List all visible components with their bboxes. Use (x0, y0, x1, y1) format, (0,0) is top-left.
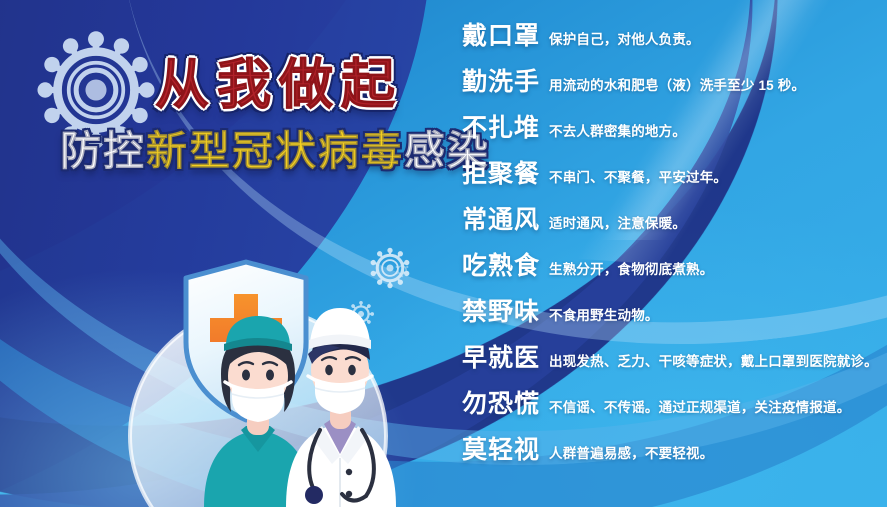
tip-description: 不食用野生动物。 (549, 304, 659, 324)
tip-title: 禁野味 (462, 292, 540, 328)
tip-title: 勤洗手 (462, 62, 540, 98)
tip-title: 不扎堆 (462, 108, 540, 144)
tip-title: 常通风 (462, 200, 540, 236)
tip-title: 拒聚餐 (462, 154, 540, 190)
medical-staff-illustration (108, 246, 408, 507)
tip-description: 人群普遍易感，不要轻视。 (549, 442, 713, 462)
list-item: 早就医 出现发热、乏力、干咳等症状，戴上口罩到医院就诊。 (462, 338, 880, 384)
headline-block: 从我做起 防控新型冠状病毒感染 (60, 58, 460, 173)
list-item: 不扎堆 不去人群密集的地方。 (462, 108, 880, 154)
tip-title: 戴口罩 (462, 16, 540, 52)
prevention-tips-list: 戴口罩 保护自己，对他人负责。 勤洗手 用流动的水和肥皂（液）洗手至少 15 秒… (462, 16, 880, 476)
tip-title: 莫轻视 (462, 430, 540, 466)
covid-prevention-poster: 从我做起 防控新型冠状病毒感染 (0, 0, 887, 507)
tip-title: 吃熟食 (462, 246, 540, 282)
eye (266, 370, 274, 381)
tip-description: 出现发热、乏力、干咳等症状，戴上口罩到医院就诊。 (549, 350, 878, 370)
list-item: 勿恐慌 不信谣、不传谣。通过正规渠道，关注疫情报道。 (462, 384, 880, 430)
list-item: 戴口罩 保护自己，对他人负责。 (462, 16, 880, 62)
tip-description: 保护自己，对他人负责。 (549, 28, 700, 48)
subtitle-segment-2: 新型冠状病毒 (146, 128, 404, 174)
tip-description: 不串门、不聚餐，平安过年。 (549, 166, 727, 186)
tip-description: 适时通风，注意保暖。 (549, 212, 686, 232)
list-item: 勤洗手 用流动的水和肥皂（液）洗手至少 15 秒。 (462, 62, 880, 108)
eye (348, 365, 356, 375)
list-item: 莫轻视 人群普遍易感，不要轻视。 (462, 430, 880, 476)
tip-title: 勿恐慌 (462, 384, 540, 420)
tip-description: 生熟分开，食物彻底煮熟。 (549, 258, 713, 278)
stethoscope-chestpiece (305, 486, 323, 504)
list-item: 吃熟食 生熟分开，食物彻底煮熟。 (462, 246, 880, 292)
tip-description: 不信谣、不传谣。通过正规渠道，关注疫情报道。 (549, 396, 850, 416)
coat-button (346, 469, 352, 475)
tip-description: 不去人群密集的地方。 (549, 120, 686, 140)
list-item: 常通风 适时通风，注意保暖。 (462, 200, 880, 246)
list-item: 拒聚餐 不串门、不聚餐，平安过年。 (462, 154, 880, 200)
page-title: 从我做起 (155, 58, 460, 112)
eye (325, 365, 333, 375)
tip-title: 早就医 (462, 338, 540, 374)
eye (242, 370, 250, 381)
list-item: 禁野味 不食用野生动物。 (462, 292, 880, 338)
subtitle-segment-1: 防控 (60, 128, 146, 174)
tip-description: 用流动的水和肥皂（液）洗手至少 15 秒。 (549, 74, 805, 94)
page-subtitle: 防控新型冠状病毒感染 (60, 130, 460, 173)
